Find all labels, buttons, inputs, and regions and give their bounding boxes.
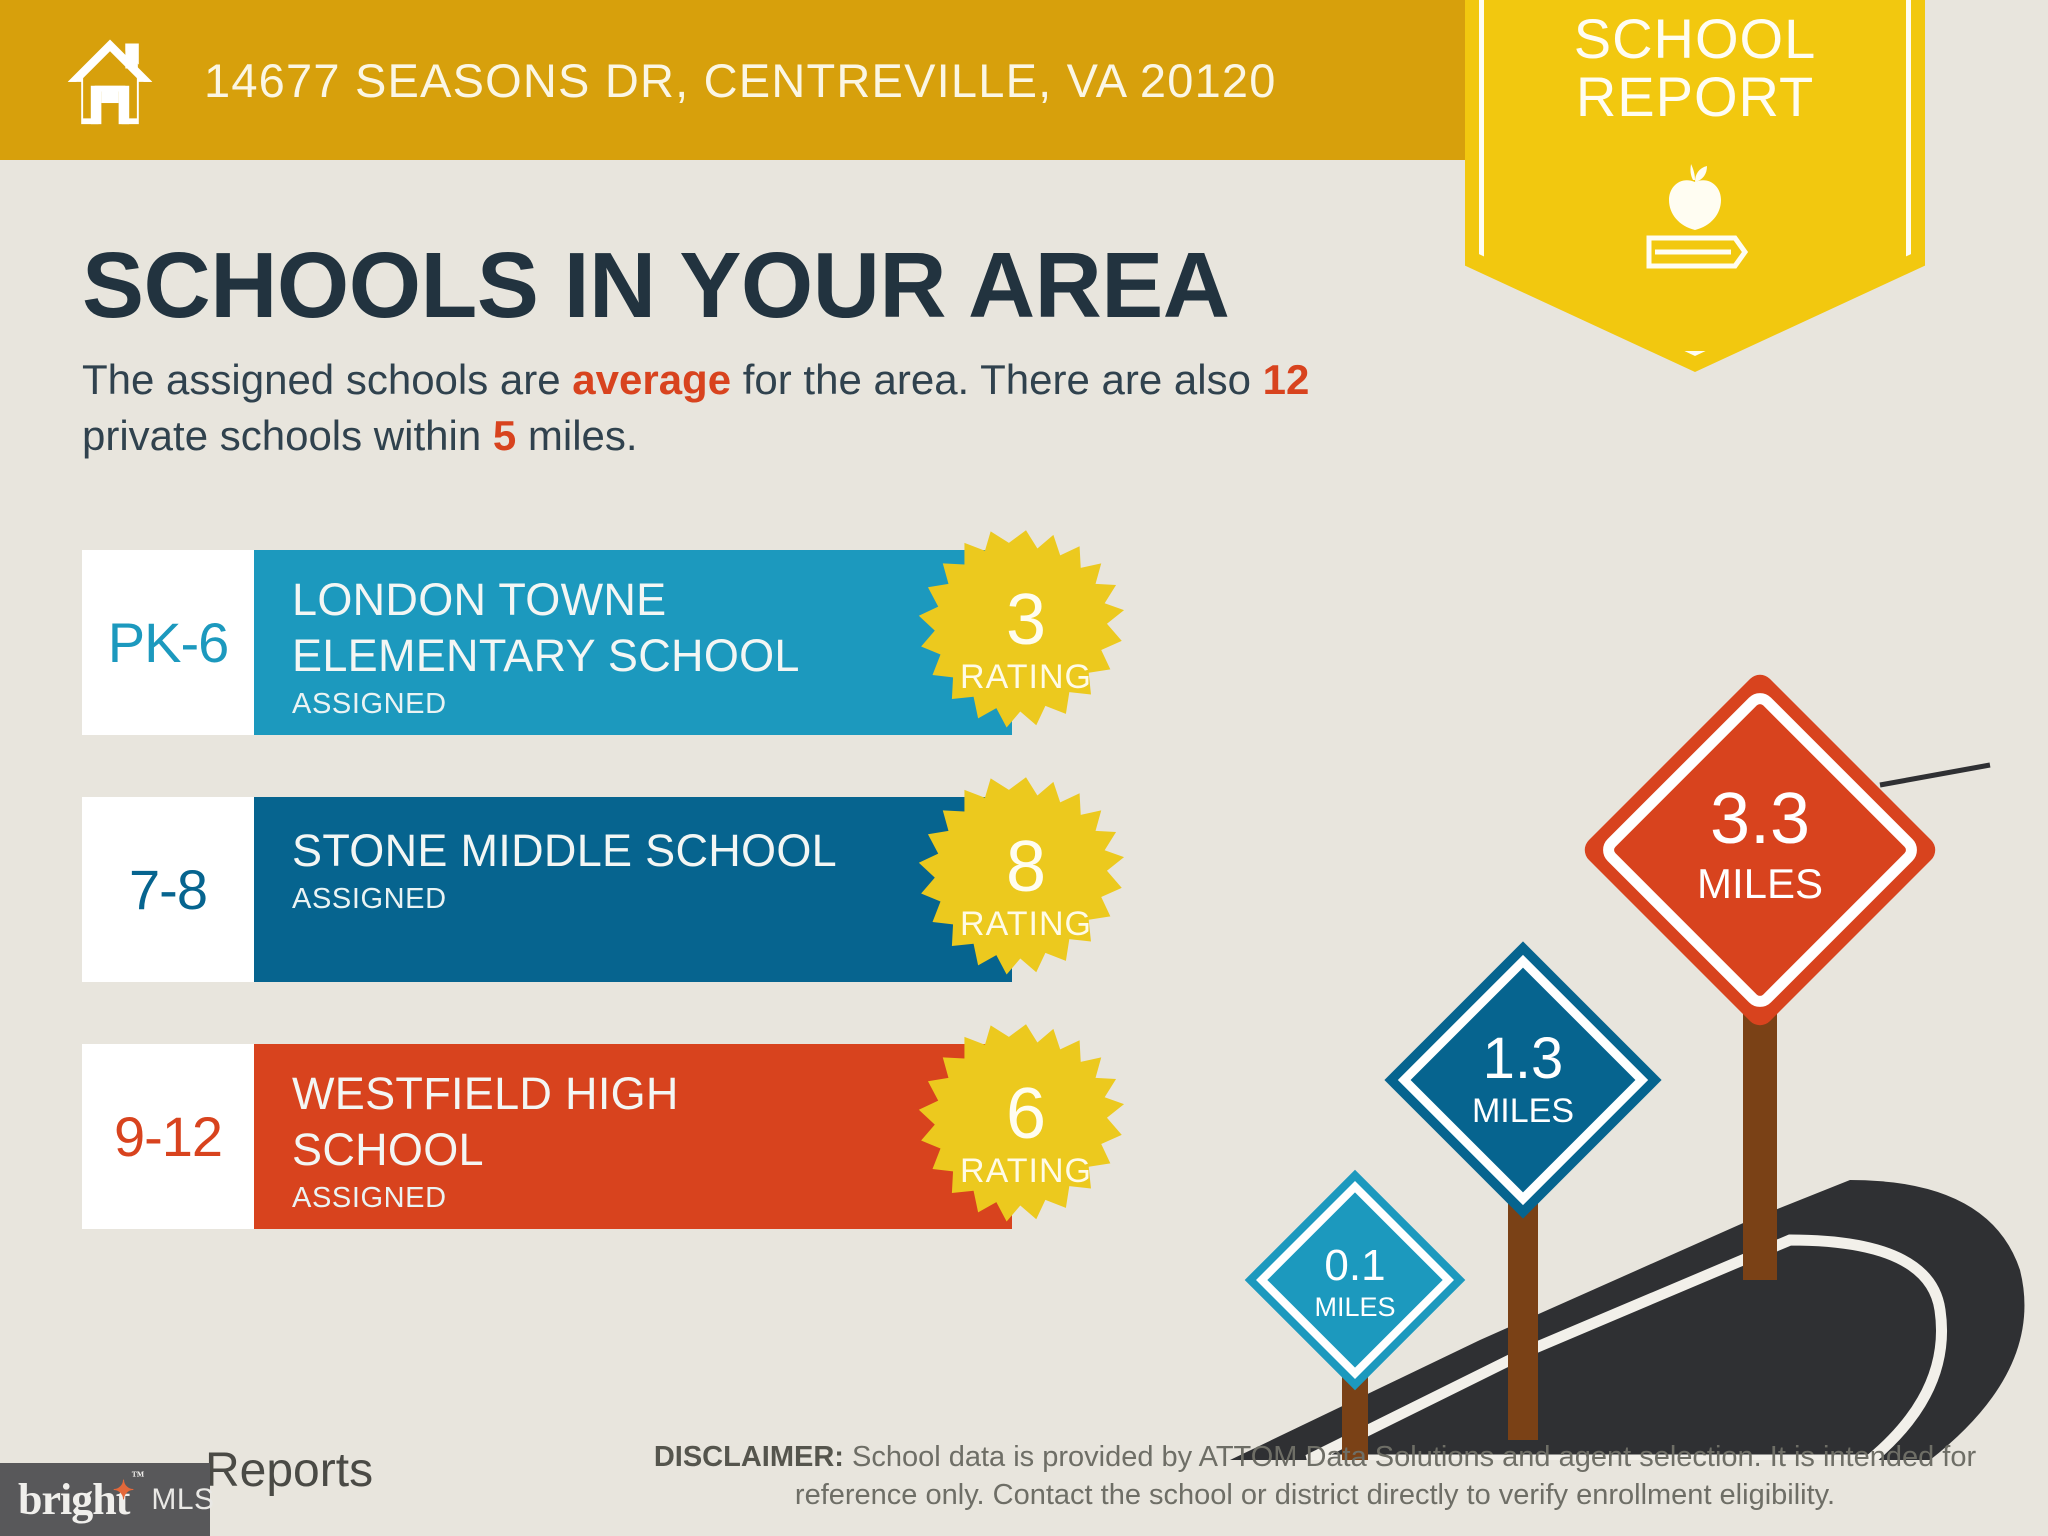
- school-report-badge: SCHOOL REPORT: [1465, 0, 1925, 372]
- rating-value: 3: [1006, 588, 1046, 652]
- sign-value: 0.1: [1324, 1241, 1385, 1290]
- book-icon: [1649, 238, 1745, 266]
- sign-unit: MILES: [1472, 1092, 1574, 1130]
- badge-title: SCHOOL REPORT: [1465, 10, 1925, 126]
- subtitle-highlight-quality: average: [572, 356, 731, 403]
- grade-label: 7-8: [129, 857, 207, 922]
- page-subtitle: The assigned schools are average for the…: [82, 352, 1442, 464]
- school-row-middle[interactable]: 7-8 STONE MIDDLE SCHOOL ASSIGNED 8 RATIN…: [82, 797, 1142, 982]
- grade-label: PK-6: [108, 610, 229, 675]
- school-bar-elementary: LONDON TOWNE ELEMENTARY SCHOOL ASSIGNED: [254, 550, 1012, 735]
- header-bar: 14677 SEASONS DR, CENTREVILLE, VA 20120: [0, 0, 1498, 160]
- grade-label: 9-12: [114, 1104, 222, 1169]
- grade-badge-middle: 7-8: [82, 797, 254, 982]
- school-bar-high: WESTFIELD HIGH SCHOOL ASSIGNED: [254, 1044, 1012, 1229]
- school-name-line1: LONDON TOWNE: [292, 572, 1012, 628]
- sign-unit: MILES: [1314, 1292, 1395, 1322]
- school-status: ASSIGNED: [292, 688, 1012, 721]
- sign-value: 1.3: [1483, 1026, 1564, 1091]
- rating-caption: RATING: [960, 1152, 1092, 1191]
- rating-value: 8: [1006, 835, 1046, 899]
- distance-road-illustration: 0.1 MILES 1.3 MILES 3.3 MILES: [1230, 580, 2048, 1460]
- school-name-line1: WESTFIELD HIGH: [292, 1066, 1012, 1122]
- sign-unit: MILES: [1697, 860, 1823, 907]
- house-icon: [62, 32, 158, 128]
- school-row-elementary[interactable]: PK-6 LONDON TOWNE ELEMENTARY SCHOOL ASSI…: [82, 550, 1142, 735]
- disclaimer-label: DISCLAIMER:: [654, 1441, 844, 1473]
- disclaimer-body: School data is provided by ATTOM Data So…: [795, 1441, 1976, 1511]
- apple-icon: [1669, 164, 1721, 230]
- disclaimer-text: DISCLAIMER: School data is provided by A…: [635, 1438, 1995, 1514]
- rating-value: 6: [1006, 1082, 1046, 1146]
- sign-value: 3.3: [1710, 779, 1810, 859]
- badge-title-line1: SCHOOL: [1465, 10, 1925, 68]
- rating-starburst-high: 6 RATING: [912, 1022, 1140, 1250]
- subtitle-part3: private schools within: [82, 412, 493, 459]
- subtitle-highlight-count: 12: [1263, 356, 1310, 403]
- trademark-icon: ™: [131, 1468, 143, 1484]
- bright-mls-logo: bright✦™ MLS: [0, 1463, 210, 1536]
- school-list: PK-6 LONDON TOWNE ELEMENTARY SCHOOL ASSI…: [82, 550, 1142, 1291]
- school-name-line2: ELEMENTARY SCHOOL: [292, 628, 1012, 684]
- subtitle-part4: miles.: [516, 412, 637, 459]
- rating-starburst-elementary: 3 RATING: [912, 528, 1140, 756]
- subtitle-highlight-radius: 5: [493, 412, 516, 459]
- sign-wire: [1880, 765, 1990, 785]
- rating-caption: RATING: [960, 658, 1092, 697]
- subtitle-part1: The assigned schools are: [82, 356, 572, 403]
- school-bar-middle: STONE MIDDLE SCHOOL ASSIGNED: [254, 797, 1012, 982]
- rating-caption: RATING: [960, 905, 1092, 944]
- school-row-high[interactable]: 9-12 WESTFIELD HIGH SCHOOL ASSIGNED 6 RA…: [82, 1044, 1142, 1229]
- rating-starburst-middle: 8 RATING: [912, 775, 1140, 1003]
- property-address: 14677 SEASONS DR, CENTREVILLE, VA 20120: [204, 53, 1277, 108]
- grade-badge-high: 9-12: [82, 1044, 254, 1229]
- road-scene-svg: 0.1 MILES 1.3 MILES 3.3 MILES: [1230, 580, 2048, 1460]
- page-title: SCHOOLS IN YOUR AREA: [82, 232, 1229, 339]
- bright-wordmark: bright✦™: [18, 1474, 129, 1525]
- school-status: ASSIGNED: [292, 883, 1012, 916]
- reports-wordmark: Reports: [205, 1443, 373, 1498]
- grade-badge-elementary: PK-6: [82, 550, 254, 735]
- school-name-line1: STONE MIDDLE SCHOOL: [292, 823, 1012, 879]
- school-name-line2: SCHOOL: [292, 1122, 1012, 1178]
- badge-title-line2: REPORT: [1465, 68, 1925, 126]
- badge-icon-group: [1465, 152, 1925, 287]
- school-status: ASSIGNED: [292, 1182, 1012, 1215]
- sparkle-icon: ✦: [113, 1476, 134, 1506]
- subtitle-part2: for the area. There are also: [731, 356, 1263, 403]
- mls-text: MLS: [151, 1483, 214, 1517]
